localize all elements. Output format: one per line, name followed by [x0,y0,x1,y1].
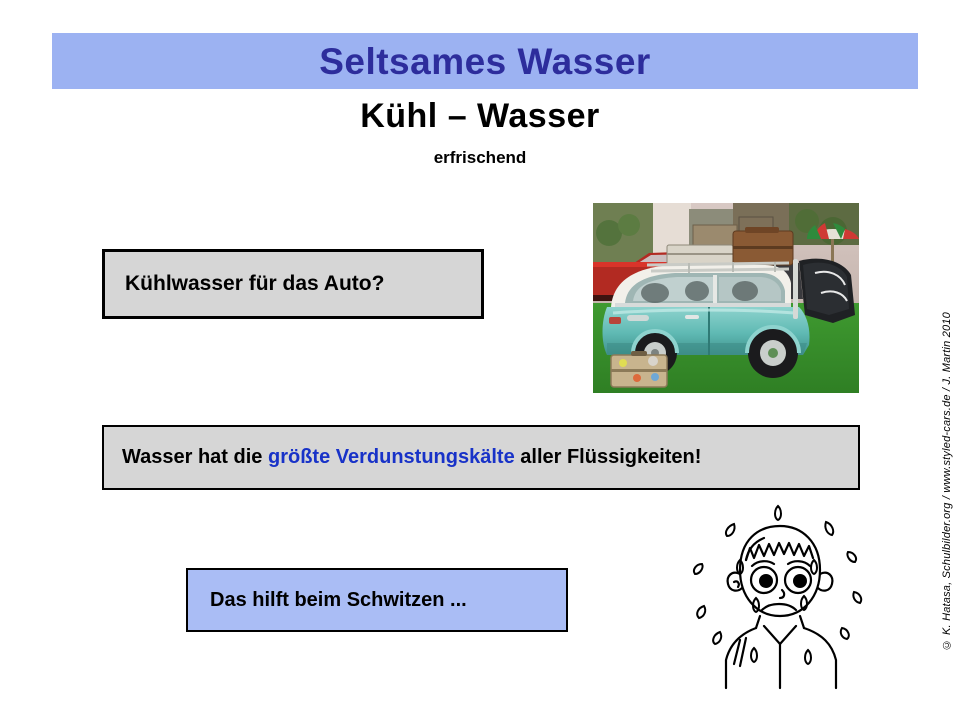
verdunstung-suffix: aller Flüssigkeiten! [515,446,702,468]
callout-box-auto: Kühlwasser für das Auto? [102,249,484,319]
page-title: Seltsames Wasser [319,43,651,80]
callout-box-schwitzen: Das hilft beim Schwitzen ... [186,568,568,632]
verdunstung-accent: größte Verdunstungskälte [268,446,515,468]
verdunstung-prefix: Wasser hat die [122,446,268,468]
car-photo-graphic [593,203,859,393]
callout-box-auto-text: Kühlwasser für das Auto? [125,272,384,296]
slide-canvas: Seltsames Wasser Kühl – Wasser erfrische… [0,0,960,720]
sweating-boy-image [682,498,878,690]
callout-box-verdunstung: Wasser hat die größte Verdunstungskälte … [102,425,860,490]
car-photo-image [593,203,859,393]
callout-box-verdunstung-text: Wasser hat die größte Verdunstungskälte … [122,446,701,469]
headline: Kühl – Wasser [0,97,960,136]
sweating-boy-graphic [682,498,878,690]
copyright-credit: © K. Hatasa, Schulbilder.org / www.style… [936,312,958,712]
title-banner: Seltsames Wasser [52,33,918,89]
subheadline: erfrischend [0,148,960,168]
callout-box-schwitzen-text: Das hilft beim Schwitzen ... [210,589,467,612]
copyright-credit-text: © K. Hatasa, Schulbilder.org / www.style… [941,312,953,650]
